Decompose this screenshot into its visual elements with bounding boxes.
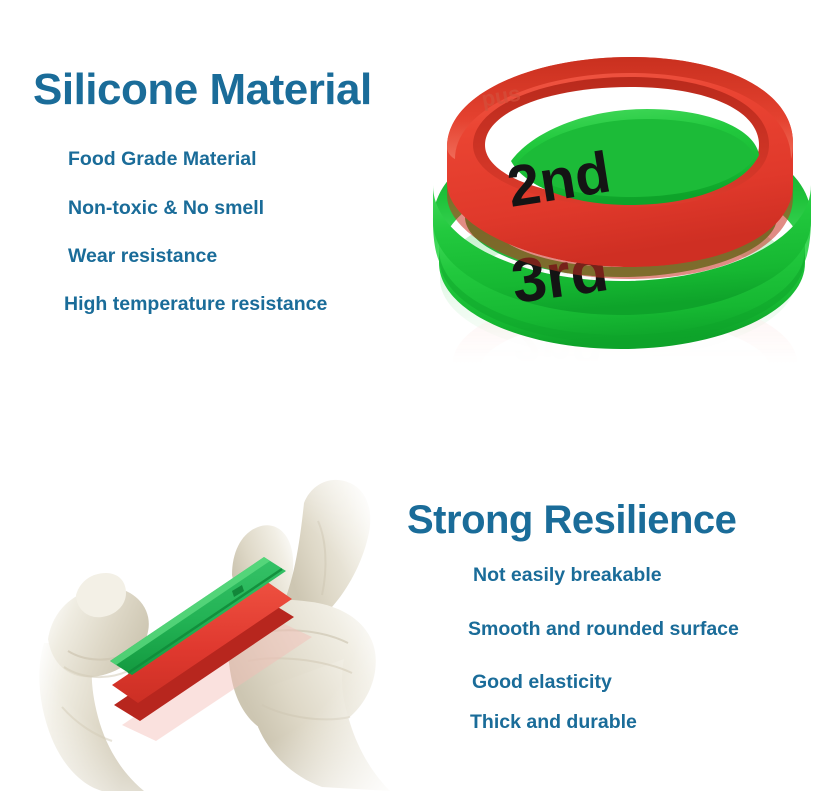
- feature-item-resilience-1: Smooth and rounded surface: [468, 620, 739, 640]
- feature-item-resilience-3: Thick and durable: [470, 713, 637, 733]
- product-photo-stacked-wristbands: 3rd 2nd bıc 3rd: [425, 35, 820, 365]
- product-feature-graphic: Silicone Material Food Grade Material No…: [0, 0, 825, 791]
- section-heading-resilience: Strong Resilience: [407, 500, 736, 540]
- section-heading-material: Silicone Material: [33, 68, 372, 112]
- feature-item-resilience-0: Not easily breakable: [473, 566, 662, 586]
- product-photo-stretch-test: [18, 455, 418, 791]
- feature-item-resilience-2: Good elasticity: [472, 673, 612, 693]
- feature-item-material-0: Food Grade Material: [68, 150, 257, 170]
- feature-item-material-2: Wear resistance: [68, 247, 217, 267]
- feature-item-material-1: Non-toxic & No smell: [68, 199, 264, 219]
- feature-item-material-3: High temperature resistance: [64, 295, 327, 315]
